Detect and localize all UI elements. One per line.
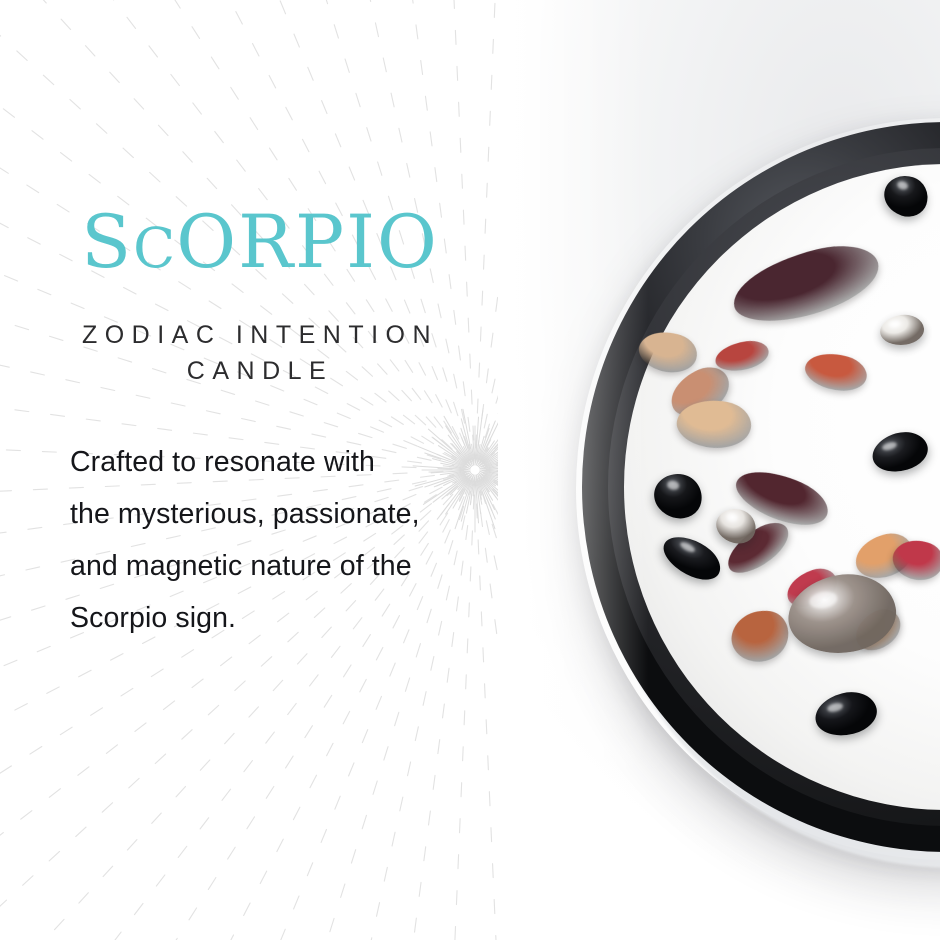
page-title: SCORPIO [0, 206, 520, 279]
title-letter-6: O [377, 200, 439, 285]
description-line-3: and magnetic nature of the [70, 540, 530, 592]
description-line-4: Scorpio sign. [70, 592, 530, 644]
product-description: Crafted to resonate with the mysterious,… [70, 436, 530, 644]
product-subtitle: ZODIAC INTENTION CANDLE [0, 318, 520, 389]
title-letter-5: I [346, 200, 377, 285]
subtitle-line-1: ZODIAC INTENTION [82, 321, 438, 349]
title-letter-4: P [295, 200, 346, 285]
title-letter-0: S [81, 200, 133, 285]
product-photo [498, 0, 940, 940]
photo-left-feather [498, 0, 940, 940]
subtitle-line-2: CANDLE [187, 357, 333, 385]
copy-block: SCORPIO ZODIAC INTENTION CANDLE Crafted … [0, 0, 520, 940]
title-letter-3: R [238, 200, 295, 285]
product-marketing-card: SCORPIO ZODIAC INTENTION CANDLE Crafted … [0, 0, 940, 940]
description-line-2: the mysterious, passionate, [70, 488, 530, 540]
description-line-1: Crafted to resonate with [70, 436, 530, 488]
title-letter-1: C [133, 216, 176, 280]
title-letter-2: O [176, 200, 238, 285]
